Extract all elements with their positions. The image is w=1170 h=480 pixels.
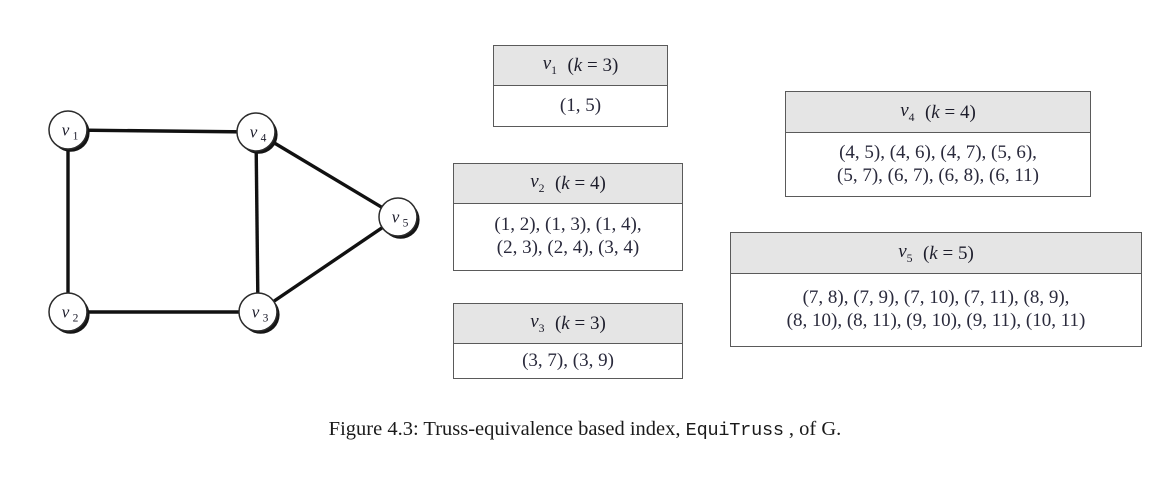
supernode-edge-list: (1, 2), (1, 3), (1, 4),(2, 3), (2, 4), (… [454, 204, 682, 269]
supernode-id-label: ν2 [530, 172, 544, 195]
supernode-id-subscript: 4 [909, 111, 915, 124]
supernode-id-subscript: 1 [551, 64, 557, 77]
supernode-edge-list: (7, 8), (7, 9), (7, 10), (7, 11), (8, 9)… [731, 274, 1141, 345]
supernode-table-v5: ν5(k = 5)(7, 8), (7, 9), (7, 10), (7, 11… [730, 232, 1142, 347]
graph-node-v4[interactable]: ν4 [237, 113, 278, 154]
supernode-id-label: ν5 [898, 242, 912, 265]
caption-prefix: Figure 4.3: Truss-equivalence based inde… [329, 418, 681, 440]
node-label: ν [62, 303, 70, 322]
supernode-table-header: ν2(k = 4) [454, 164, 682, 204]
supernode-table-v2: ν2(k = 4)(1, 2), (1, 3), (1, 4),(2, 3), … [453, 163, 683, 271]
graph-svg: ν1ν2ν3ν4ν5 [0, 0, 460, 400]
edge-list-row: (5, 7), (6, 7), (6, 8), (6, 11) [837, 164, 1039, 187]
edge-list-row: (4, 5), (4, 6), (4, 7), (5, 6), [839, 141, 1037, 164]
edge-list-row: (3, 7), (3, 9) [522, 349, 614, 372]
caption-algorithm-name: EquiTruss [686, 420, 784, 441]
figure-caption: Figure 4.3: Truss-equivalence based inde… [0, 418, 1170, 441]
graph-edge-v3-v4 [256, 132, 258, 312]
edge-list-row: (2, 3), (2, 4), (3, 4) [497, 236, 639, 259]
node-label-subscript: 3 [263, 313, 269, 325]
trussness-label: (k = 5) [923, 244, 974, 263]
supernode-id-subscript: 2 [539, 182, 545, 195]
edge-list-row: (7, 8), (7, 9), (7, 10), (7, 11), (8, 9)… [803, 286, 1070, 309]
figure-page: ν1ν2ν3ν4ν5 ν1(k = 3)(1, 5)ν2(k = 4)(1, 2… [0, 0, 1170, 480]
supernode-edge-list: (3, 7), (3, 9) [454, 344, 682, 377]
node-label-subscript: 4 [261, 133, 267, 145]
graph-node-v5[interactable]: ν5 [379, 198, 420, 239]
edge-list-row: (8, 10), (8, 11), (9, 10), (9, 11), (10,… [787, 309, 1086, 332]
trussness-label: (k = 4) [925, 103, 976, 122]
supernode-table-header: ν3(k = 3) [454, 304, 682, 344]
node-label-subscript: 2 [73, 313, 79, 325]
node-label: ν [62, 121, 70, 140]
supernode-id-label: ν1 [543, 54, 557, 77]
graph-panel: ν1ν2ν3ν4ν5 [0, 0, 460, 400]
graph-edge-v1-v4 [68, 130, 256, 132]
node-label-subscript: 1 [73, 131, 79, 143]
node-label: ν [252, 303, 260, 322]
node-label-subscript: 5 [403, 218, 409, 230]
trussness-label: (k = 4) [555, 174, 606, 193]
trussness-label: (k = 3) [555, 314, 606, 333]
graph-node-v3[interactable]: ν3 [239, 293, 280, 334]
supernode-id-subscript: 5 [907, 252, 913, 265]
trussness-label: (k = 3) [567, 56, 618, 75]
supernode-edge-list: (1, 5) [494, 86, 667, 125]
supernode-table-v3: ν3(k = 3)(3, 7), (3, 9) [453, 303, 683, 379]
edge-list-row: (1, 5) [560, 94, 601, 117]
edge-layer [68, 130, 398, 312]
node-label: ν [392, 208, 400, 227]
graph-edge-v3-v5 [258, 217, 398, 312]
graph-edge-v4-v5 [256, 132, 398, 217]
node-label: ν [250, 123, 258, 142]
graph-node-v1[interactable]: ν1 [49, 111, 90, 152]
supernode-id-label: ν3 [530, 312, 544, 335]
edge-list-row: (1, 2), (1, 3), (1, 4), [494, 213, 641, 236]
supernode-id-label: ν4 [900, 101, 914, 124]
graph-node-v2[interactable]: ν2 [49, 293, 90, 334]
supernode-table-v4: ν4(k = 4)(4, 5), (4, 6), (4, 7), (5, 6),… [785, 91, 1091, 197]
supernode-edge-list: (4, 5), (4, 6), (4, 7), (5, 6),(5, 7), (… [786, 133, 1090, 195]
caption-suffix: , of G. [789, 418, 841, 440]
supernode-table-header: ν1(k = 3) [494, 46, 667, 86]
supernode-table-header: ν5(k = 5) [731, 233, 1141, 274]
node-layer: ν1ν2ν3ν4ν5 [49, 111, 420, 334]
supernode-table-v1: ν1(k = 3)(1, 5) [493, 45, 668, 127]
supernode-table-header: ν4(k = 4) [786, 92, 1090, 133]
supernode-id-subscript: 3 [539, 322, 545, 335]
